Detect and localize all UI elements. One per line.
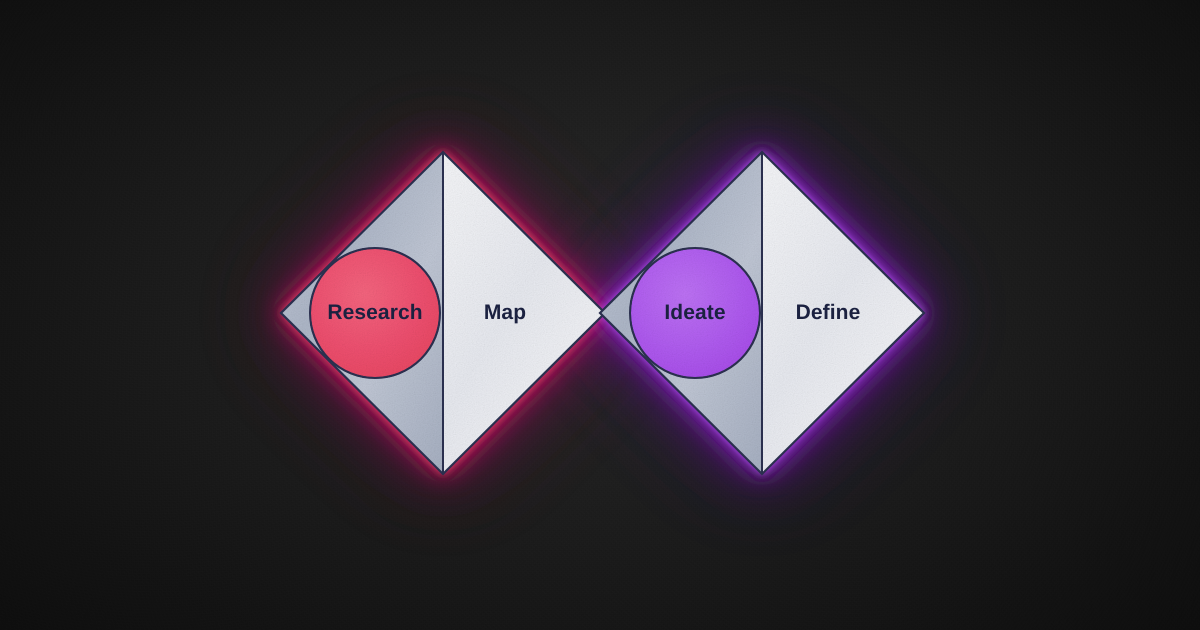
map-half-triangle[interactable] bbox=[443, 152, 605, 474]
define-half-triangle[interactable] bbox=[762, 152, 924, 474]
left-diamond[interactable] bbox=[281, 152, 605, 474]
diagram-canvas: Research Map Ideate Define bbox=[0, 0, 1200, 630]
right-diamond[interactable] bbox=[600, 152, 924, 474]
double-diamond-diagram bbox=[0, 0, 1200, 630]
